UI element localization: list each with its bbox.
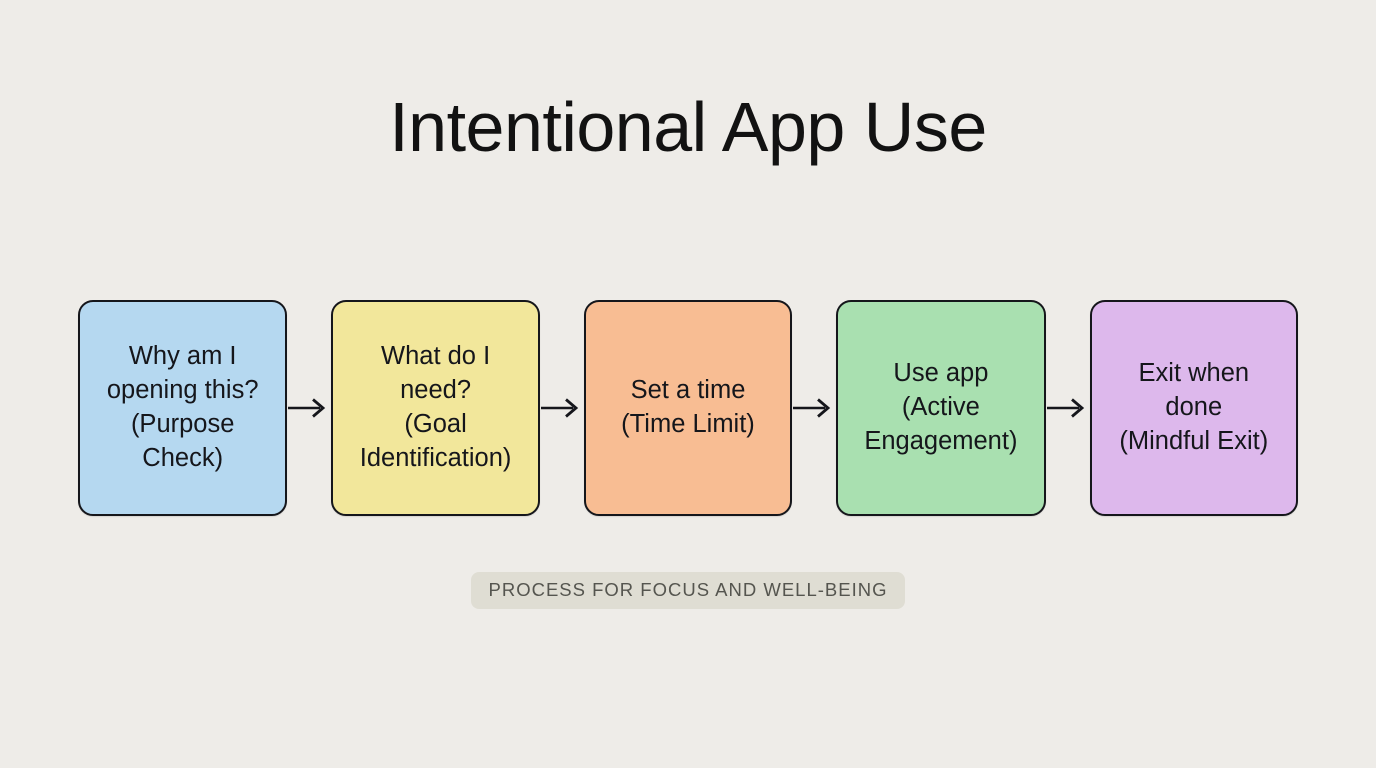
flow-node-label: Exit when done (Mindful Exit) — [1119, 357, 1268, 459]
flow-node-label: Use app (Active Engagement) — [864, 357, 1017, 459]
arrow-right-icon — [1046, 396, 1090, 420]
flow-node-active-engagement[interactable]: Use app (Active Engagement) — [836, 300, 1045, 516]
flow-node-label: Set a time (Time Limit) — [621, 374, 755, 442]
page-title: Intentional App Use — [0, 92, 1376, 162]
caption-text: PROCESS FOR FOCUS AND WELL-BEING — [471, 572, 906, 609]
arrow-right-icon — [792, 396, 836, 420]
flow-node-label: Why am I opening this? (Purpose Check) — [107, 340, 259, 476]
diagram-canvas: Intentional App Use Why am I opening thi… — [0, 0, 1376, 768]
flow-node-mindful-exit[interactable]: Exit when done (Mindful Exit) — [1090, 300, 1298, 516]
arrow-right-icon — [540, 396, 584, 420]
flow-node-label: What do I need? (Goal Identification) — [360, 340, 512, 476]
flow-node-goal-identification[interactable]: What do I need? (Goal Identification) — [331, 300, 539, 516]
flowchart: Why am I opening this? (Purpose Check) W… — [78, 300, 1298, 516]
flow-node-purpose-check[interactable]: Why am I opening this? (Purpose Check) — [78, 300, 287, 516]
flow-node-time-limit[interactable]: Set a time (Time Limit) — [584, 300, 792, 516]
arrow-right-icon — [287, 396, 331, 420]
caption: PROCESS FOR FOCUS AND WELL-BEING — [0, 572, 1376, 609]
